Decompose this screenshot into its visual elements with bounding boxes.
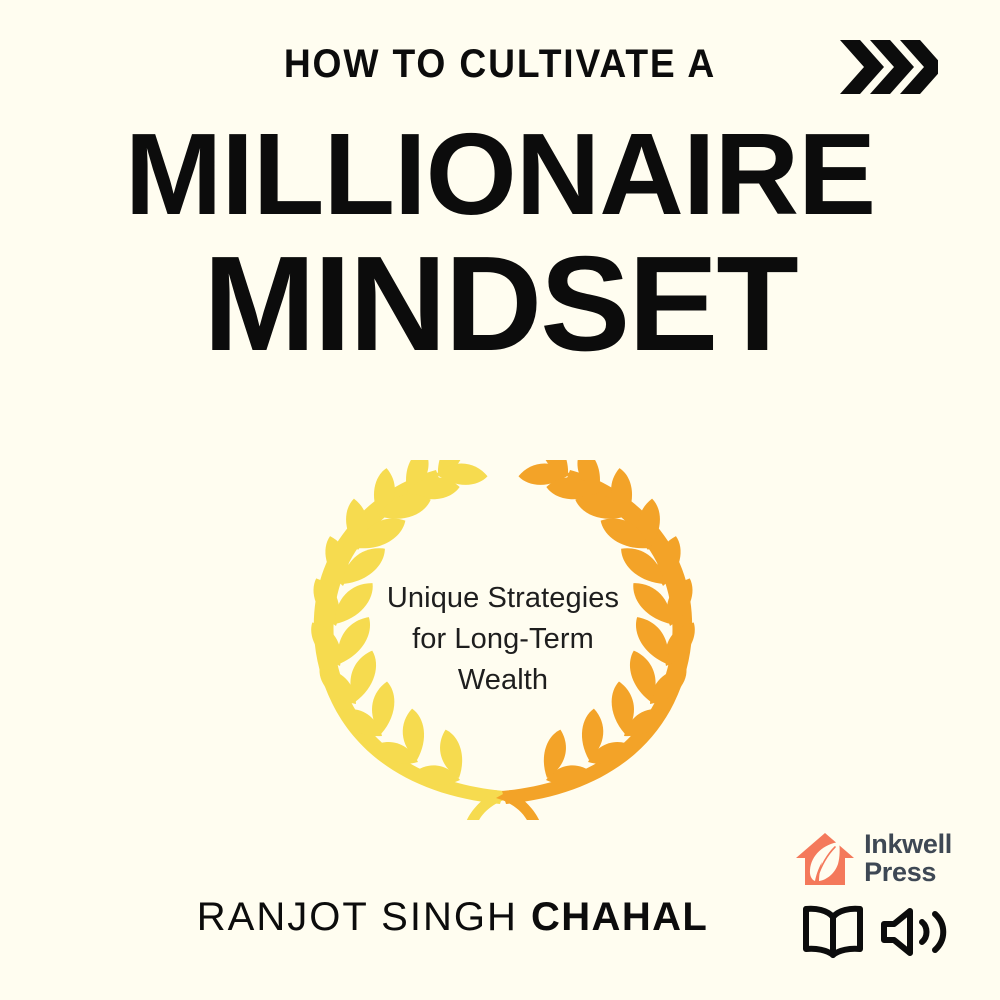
subtitle-line-1: Unique Strategies	[268, 578, 738, 619]
speaker-sound-icon	[880, 905, 952, 959]
subtitle-line-3: Wealth	[268, 660, 738, 701]
title-line-millionaire: MILLIONAIRE	[0, 118, 1000, 232]
book-cover: HOW TO CULTIVATE A MILLIONAIRE MINDSET	[0, 0, 1000, 1000]
open-book-icon	[800, 905, 866, 959]
kicker-row: HOW TO CULTIVATE A	[0, 36, 1000, 100]
title-line-mindset: MINDSET	[0, 238, 1000, 370]
subtitle-line-2: for Long-Term	[268, 619, 738, 660]
publisher-name-line-2: Press	[864, 859, 952, 887]
laurel-wreath-icon: Unique Strategies for Long-Term Wealth	[268, 460, 738, 820]
author-given-names: RANJOT SINGH	[197, 895, 531, 939]
publisher-name-line-1: Inkwell	[864, 831, 952, 859]
house-quill-icon	[794, 828, 856, 890]
author-surname: CHAHAL	[531, 895, 708, 939]
publisher-logo: Inkwell Press	[794, 828, 952, 890]
audiobook-badge	[800, 905, 952, 959]
publisher-name: Inkwell Press	[864, 831, 952, 886]
subtitle: Unique Strategies for Long-Term Wealth	[268, 578, 738, 702]
kicker-text: HOW TO CULTIVATE A	[35, 42, 965, 87]
page-title: MILLIONAIRE MINDSET	[0, 118, 1000, 370]
author-byline: RANJOT SINGH CHAHAL	[0, 895, 905, 940]
triple-chevron-right-icon	[838, 36, 938, 103]
